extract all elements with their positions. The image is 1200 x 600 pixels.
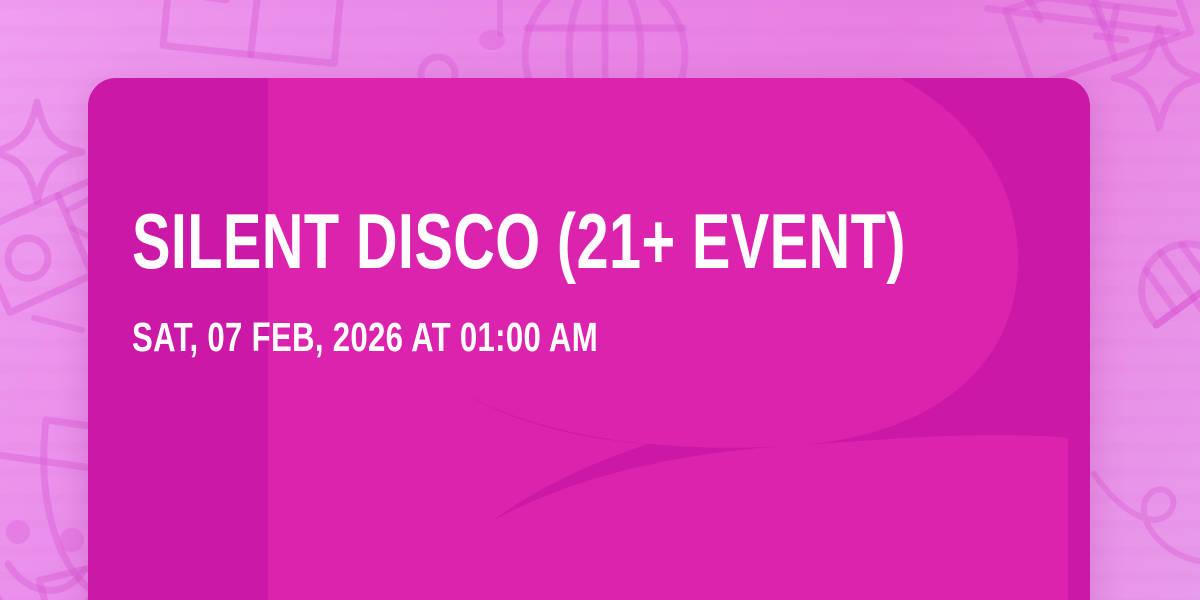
event-card-text: SILENT DISCO (21+ EVENT) SAT, 07 FEB, 20…	[132, 204, 1030, 358]
sparkle-icon	[1104, 18, 1200, 138]
microphone-icon	[1118, 206, 1200, 396]
event-banner: SILENT DISCO (21+ EVENT) SAT, 07 FEB, 20…	[0, 0, 1200, 600]
music-note-icon	[470, 0, 530, 66]
swirl-icon	[1090, 452, 1200, 600]
event-datetime: SAT, 07 FEB, 2026 AT 01:00 AM	[132, 317, 814, 358]
event-card[interactable]: SILENT DISCO (21+ EVENT) SAT, 07 FEB, 20…	[88, 78, 1090, 600]
event-title: SILENT DISCO (21+ EVENT)	[132, 204, 797, 279]
